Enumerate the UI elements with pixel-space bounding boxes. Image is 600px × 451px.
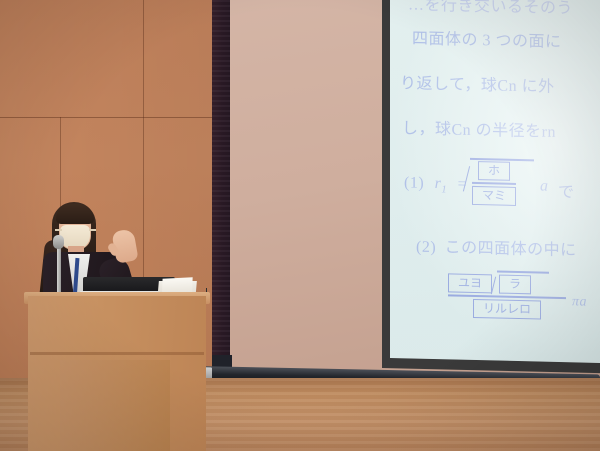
problem-1-trailing-text: で: [558, 178, 575, 202]
podium-trim-band: [30, 352, 204, 355]
slide-line-3: し，球Cn の半径をrn: [402, 114, 556, 142]
slide-line-0: …を行き交いるそのう: [408, 0, 573, 18]
problem-1-lhs: r1: [435, 175, 448, 192]
problem-2-radical-box: ラ: [499, 275, 531, 295]
problem-1-numerator-box: ホ: [478, 161, 510, 181]
problem-2-radical-bar: [497, 271, 549, 274]
problem-2-number: (2): [416, 239, 436, 256]
mask-strap-right: [89, 229, 96, 231]
screenshot-root: …を行き交いるそのう 四面体の 3 つの面に り返して，球Cn に外 し，球Cn…: [0, 0, 600, 451]
wall-seam-horizontal: [0, 117, 232, 118]
podium-base: [60, 360, 170, 451]
projected-slide: …を行き交いるそのう 四面体の 3 つの面に り返して，球Cn に外 し，球Cn…: [390, 0, 600, 363]
presenter-hair-front: [56, 204, 94, 224]
problem-2-fraction-bar: [448, 294, 566, 298]
problem-2-numerator-left-box: ユヨ: [448, 273, 492, 293]
problem-2-fraction: ユヨ ラ リルレロ: [448, 273, 566, 319]
projection-screen-surface: …を行き交いるそのう 四面体の 3 つの面に り返して，球Cn に外 し，球Cn…: [390, 0, 600, 363]
problem-1-fraction-bar: [472, 182, 516, 185]
microphone-head: [53, 235, 64, 249]
problem-1-fraction: ホ マミ: [472, 161, 516, 206]
problem-2-numerator-row: ユヨ ラ: [448, 273, 566, 295]
mask-strap-left: [55, 229, 62, 231]
problem-1-suffix-var: a: [540, 178, 549, 196]
problem-1-row: (1) r1 =: [404, 174, 467, 196]
problem-1-denominator-box: マミ: [472, 186, 516, 206]
slide-line-2: り返して，球Cn に外: [400, 69, 555, 97]
microphone-stand: [57, 245, 61, 295]
problem-2-trailing: πa: [572, 294, 587, 310]
problem-2-denominator-box: リルレロ: [473, 299, 541, 320]
presenter-raised-hand: [111, 228, 138, 263]
slide-line-1: 四面体の 3 つの面に: [412, 25, 562, 53]
problem-2-row: (2) この四面体の中に: [416, 233, 577, 261]
problem-2-text: この四面体の中に: [445, 239, 577, 259]
problem-2-radical-group: ラ: [494, 274, 531, 294]
problem-1-number: (1): [404, 174, 424, 191]
